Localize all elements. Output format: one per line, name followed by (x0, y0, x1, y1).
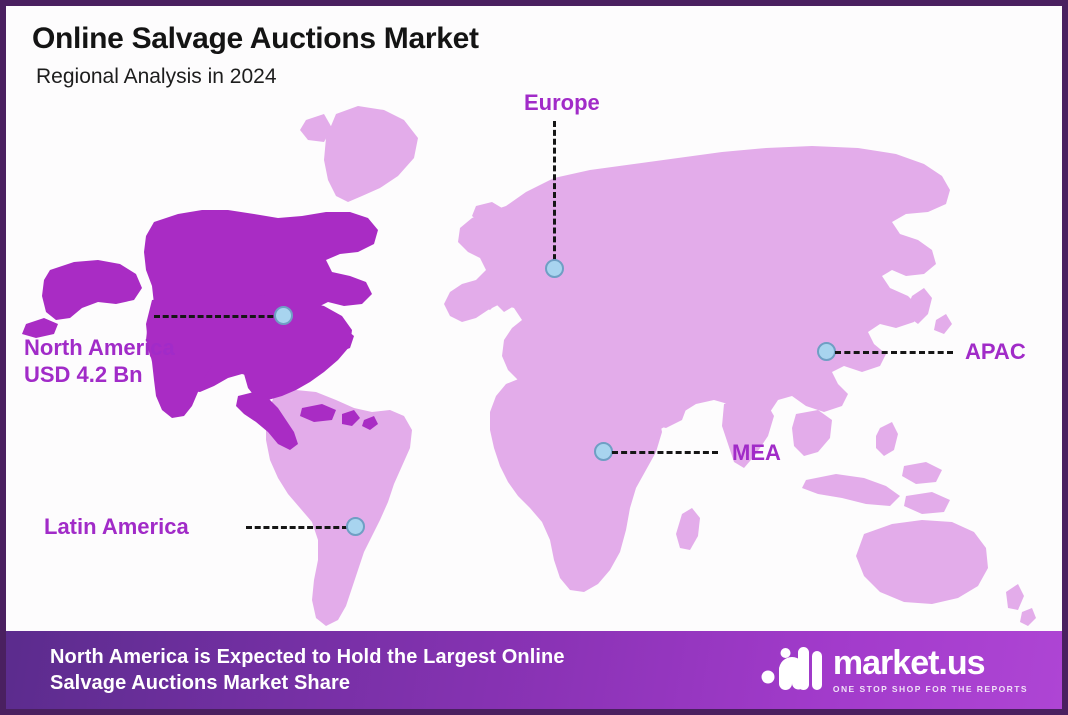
logo-wordmark: market.us (833, 646, 985, 680)
map-marker-north-america[interactable] (274, 306, 293, 325)
callout-line-north-america (154, 315, 282, 318)
map-marker-europe[interactable] (545, 259, 564, 278)
header: Online Salvage Auctions Market Regional … (32, 22, 732, 88)
region-label-latin-america: Latin America (44, 514, 189, 541)
map-marker-apac[interactable] (817, 342, 836, 361)
page-title: Online Salvage Auctions Market (32, 22, 732, 55)
region-value-north-america: USD 4.2 Bn (24, 362, 175, 389)
map-marker-latin-america[interactable] (346, 517, 365, 536)
region-name-north-america: North America (24, 335, 175, 362)
footer-banner: North America is Expected to Hold the La… (6, 631, 1062, 709)
market-us-logo[interactable]: market.us ONE STOP SHOP FOR THE REPORTS (761, 645, 1036, 696)
callout-line-europe (553, 121, 556, 269)
footer-headline-line2: Salvage Auctions Market Share (50, 670, 565, 696)
map-marker-mea[interactable] (594, 442, 613, 461)
map-base-regions (266, 106, 1036, 626)
region-label-north-america: North America USD 4.2 Bn (24, 335, 175, 389)
audio-wave-icon (761, 645, 823, 696)
callout-line-mea (612, 451, 718, 454)
region-label-europe: Europe (524, 90, 600, 117)
logo-text-block: market.us ONE STOP SHOP FOR THE REPORTS (833, 646, 1028, 694)
map-highlight-north-america (22, 210, 378, 450)
logo-tagline: ONE STOP SHOP FOR THE REPORTS (833, 684, 1028, 694)
region-label-apac: APAC (965, 339, 1026, 366)
region-label-mea: MEA (732, 440, 781, 467)
footer-headline: North America is Expected to Hold the La… (50, 644, 565, 696)
audio-wave-icon-svg (761, 645, 823, 691)
callout-line-apac (835, 351, 953, 354)
footer-headline-line1: North America is Expected to Hold the La… (50, 644, 565, 670)
infographic-card: Online Salvage Auctions Market Regional … (0, 0, 1068, 715)
callout-line-latin-america (246, 526, 348, 529)
